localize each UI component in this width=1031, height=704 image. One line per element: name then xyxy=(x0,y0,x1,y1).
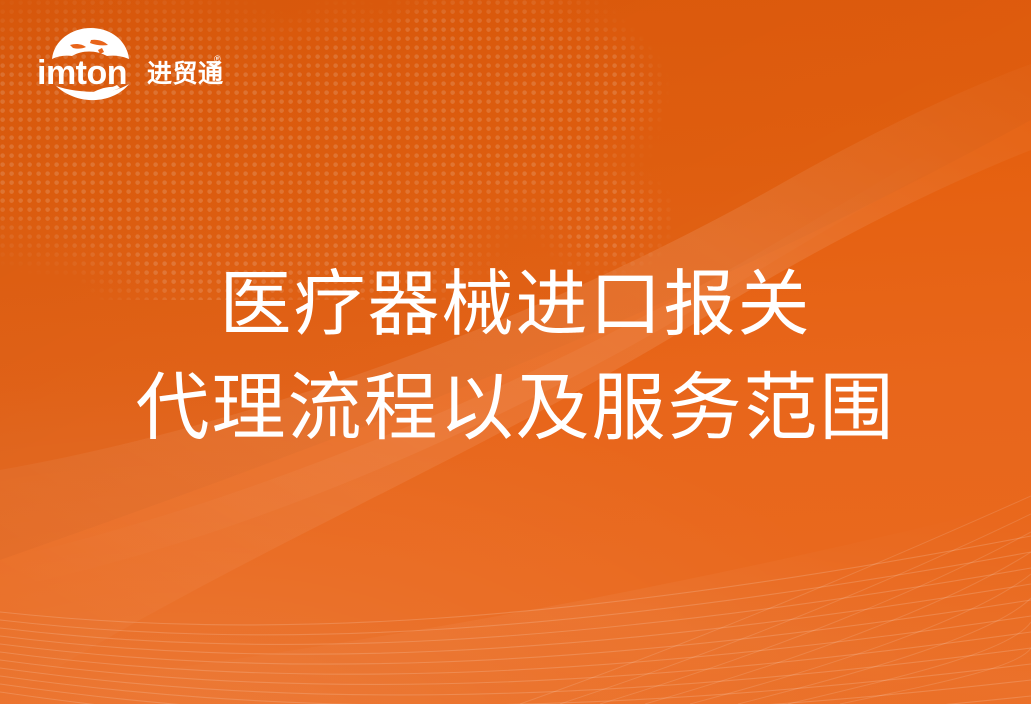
logo-latin-name: imton xyxy=(37,54,127,92)
logo-chinese-name: 进贸通 xyxy=(147,59,224,88)
promo-banner: imton 进贸通 ® 医疗器械进口报关 代理流程以及服务范围 xyxy=(0,0,1031,704)
headline-line-1: 医疗器械进口报关 xyxy=(0,252,1031,356)
headline-block: 医疗器械进口报关 代理流程以及服务范围 xyxy=(0,252,1031,460)
headline-line-2: 代理流程以及服务范围 xyxy=(0,356,1031,460)
brand-logo[interactable]: imton 进贸通 ® xyxy=(34,26,226,104)
registered-trademark-icon: ® xyxy=(214,54,221,64)
